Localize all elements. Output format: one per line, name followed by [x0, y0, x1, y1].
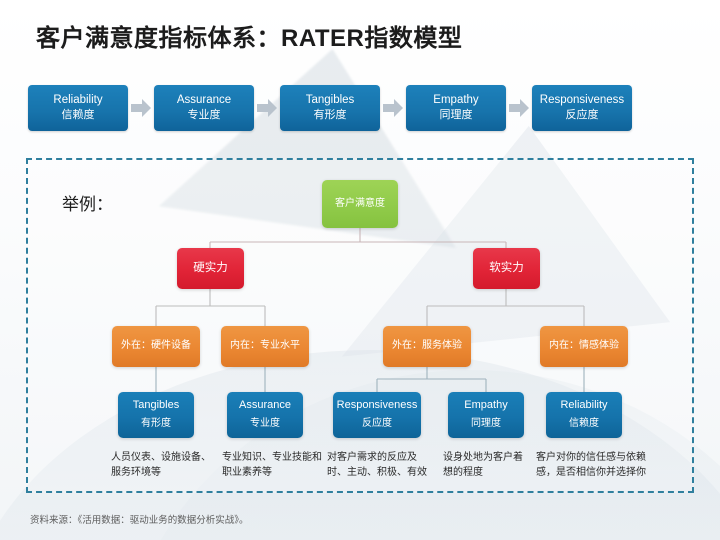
- flow-step-reliability[interactable]: Reliability 信赖度: [28, 85, 128, 131]
- tree-description-responsiveness: 对客户需求的反应及时、主动、积极、有效: [327, 450, 433, 480]
- tree-leaf-cn: 信赖度: [569, 418, 599, 431]
- tree-node-label: 软实力: [489, 261, 524, 275]
- arrow-right-icon: [380, 85, 406, 131]
- tree-node-label: 外在：服务体验: [392, 340, 462, 353]
- tree-leaf-en: Assurance: [239, 399, 291, 413]
- tree-leaf-cn: 有形度: [141, 418, 171, 431]
- tree-node-root[interactable]: 客户满意度: [322, 180, 398, 228]
- page-title: 客户满意度指标体系：RATER指数模型: [36, 18, 462, 53]
- tree-node-label: 外在：硬件设备: [121, 340, 191, 353]
- flow-step-responsiveness[interactable]: Responsiveness 反应度: [532, 85, 632, 131]
- flow-step-en: Assurance: [177, 95, 231, 107]
- satisfaction-tree: 客户满意度 硬实力 软实力 外在：硬件设备 内在：专业水平 外在：服务体验 内在…: [0, 0, 720, 540]
- flow-step-empathy[interactable]: Empathy 同理度: [406, 85, 506, 131]
- arrow-right-icon: [506, 85, 532, 131]
- rater-flow-strip: Reliability 信赖度 Assurance 专业度 Tangibles …: [28, 85, 632, 131]
- tree-description-empathy: 设身处地为客户着想的程度: [443, 450, 525, 480]
- source-note: 资料来源：《活用数据：驱动业务的数据分析实战》。: [30, 512, 249, 526]
- tree-node-label: 内在：情感体验: [549, 340, 619, 353]
- tree-leaf-en: Responsiveness: [337, 399, 418, 413]
- flow-step-en: Responsiveness: [540, 95, 624, 107]
- flow-step-cn: 专业度: [188, 110, 221, 121]
- tree-node-label: 内在：专业水平: [230, 340, 300, 353]
- tree-node-category-expertise[interactable]: 内在：专业水平: [221, 326, 309, 367]
- tree-leaf-tangibles[interactable]: Tangibles 有形度: [118, 392, 194, 438]
- flow-step-tangibles[interactable]: Tangibles 有形度: [280, 85, 380, 131]
- arrow-right-icon: [254, 85, 280, 131]
- tree-leaf-assurance[interactable]: Assurance 专业度: [227, 392, 303, 438]
- tree-node-soft-power[interactable]: 软实力: [473, 248, 540, 289]
- tree-leaf-responsiveness[interactable]: Responsiveness 反应度: [333, 392, 421, 438]
- tree-description-reliability: 客户对你的信任感与依赖感，是否相信你并选择你: [536, 450, 658, 480]
- tree-description-tangibles: 人员仪表、设施设备、服务环境等: [111, 450, 211, 480]
- flow-step-cn: 反应度: [566, 110, 599, 121]
- example-label: 举例：: [62, 190, 113, 215]
- tree-node-category-emotion[interactable]: 内在：情感体验: [540, 326, 628, 367]
- tree-leaf-cn: 专业度: [250, 418, 280, 431]
- tree-description-assurance: 专业知识、专业技能和职业素养等: [222, 450, 322, 480]
- flow-step-en: Empathy: [433, 95, 478, 107]
- tree-node-category-hardware[interactable]: 外在：硬件设备: [112, 326, 200, 367]
- tree-leaf-cn: 同理度: [471, 418, 501, 431]
- tree-leaf-en: Empathy: [464, 399, 507, 413]
- tree-leaf-en: Reliability: [560, 399, 607, 413]
- tree-leaf-en: Tangibles: [133, 399, 179, 413]
- flow-step-assurance[interactable]: Assurance 专业度: [154, 85, 254, 131]
- tree-node-category-service[interactable]: 外在：服务体验: [383, 326, 471, 367]
- tree-node-label: 硬实力: [193, 261, 228, 275]
- flow-step-cn: 信赖度: [62, 110, 95, 121]
- tree-node-label: 客户满意度: [335, 198, 385, 211]
- flow-step-cn: 同理度: [440, 110, 473, 121]
- tree-leaf-reliability[interactable]: Reliability 信赖度: [546, 392, 622, 438]
- flow-step-cn: 有形度: [314, 110, 347, 121]
- tree-leaf-empathy[interactable]: Empathy 同理度: [448, 392, 524, 438]
- tree-node-hard-power[interactable]: 硬实力: [177, 248, 244, 289]
- flow-step-en: Reliability: [53, 95, 102, 107]
- arrow-right-icon: [128, 85, 154, 131]
- tree-leaf-cn: 反应度: [362, 418, 392, 431]
- flow-step-en: Tangibles: [306, 95, 355, 107]
